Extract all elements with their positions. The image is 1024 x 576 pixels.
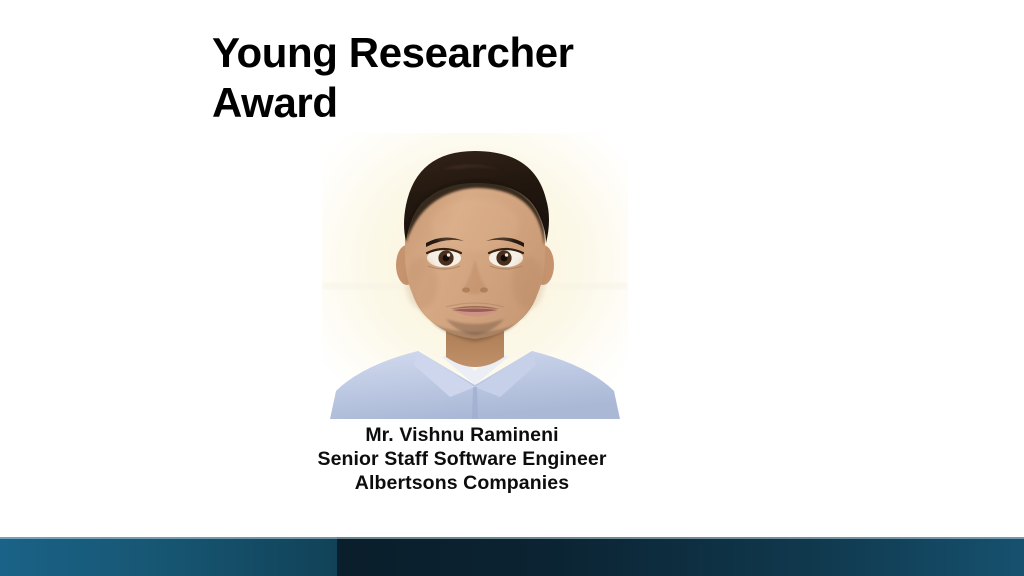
footer-bar-highlight-line [0, 537, 1024, 539]
page-title: Young Researcher Award [212, 28, 832, 127]
footer-bar-left-segment [0, 537, 337, 576]
recipient-name: Mr. Vishnu Ramineni [212, 423, 712, 447]
slide: Young Researcher Award [0, 0, 1024, 576]
caption-block: Mr. Vishnu Ramineni Senior Staff Softwar… [212, 423, 712, 495]
recipient-role: Senior Staff Software Engineer [212, 447, 712, 471]
portrait-illustration [322, 133, 628, 419]
recipient-organization: Albertsons Companies [212, 471, 712, 495]
footer-decorative-bar [0, 537, 1024, 576]
portrait-photo [322, 133, 628, 419]
footer-bar-right-segment [337, 537, 1024, 576]
